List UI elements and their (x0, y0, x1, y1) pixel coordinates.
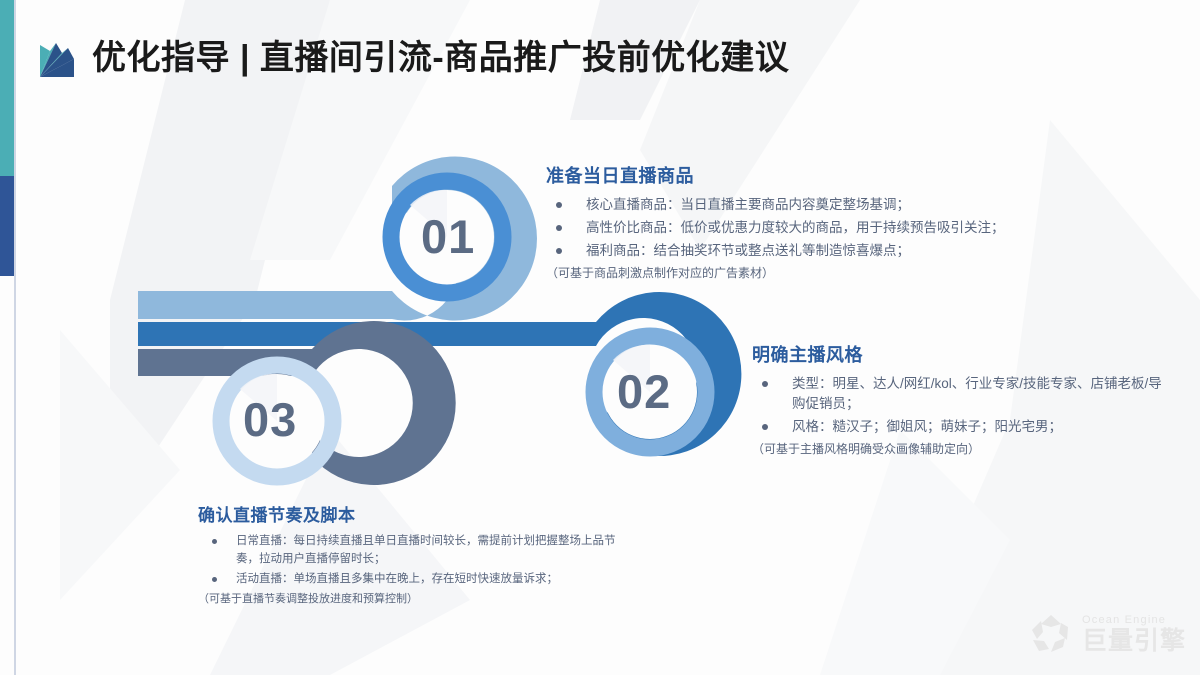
list-item: 高性价比商品：低价或优惠力度较大的商品，用于持续预告吸引关注； (546, 218, 1016, 238)
step-number-02: 02 (617, 368, 671, 415)
step-heading-02: 明确主播风格 (752, 345, 1172, 367)
ocean-engine-fan-logo-icon (36, 37, 78, 79)
step-note-03: （可基于直播节奏调整投放进度和预算控制） (198, 591, 618, 608)
step-bullet-list-03: 日常直播：每日持续直播且单日直播时间较长，需提前计划把握整场上品节奏，拉动用户直… (198, 533, 618, 588)
slide-header: 优化指导 | 直播间引流-商品推广投前优化建议 (0, 28, 1200, 88)
step-text-block-02: 明确主播风格 类型：明星、达人/网红/kol、行业专家/技能专家、店铺老板/导购… (752, 345, 1172, 458)
step-text-block-01: 准备当日直播商品 核心直播商品：当日直播主要商品内容奠定整场基调； 高性价比商品… (546, 166, 1016, 282)
step-note-01: （可基于商品刺激点制作对应的广告素材） (546, 264, 1016, 282)
list-item: 福利商品：结合抽奖环节或整点送礼等制造惊喜爆点； (546, 241, 1016, 261)
list-item: 活动直播：单场直播且多集中在晚上，存在短时快速放量诉求； (198, 571, 618, 589)
list-item: 日常直播：每日持续直播且单日直播时间较长，需提前计划把握整场上品节奏，拉动用户直… (198, 533, 618, 569)
watermark-logo: Ocean Engine 巨量引擎 (1028, 611, 1186, 657)
page-title: 优化指导 | 直播间引流-商品推广投前优化建议 (92, 41, 789, 75)
step-note-02: （可基于主播风格明确受众画像辅助定向） (752, 440, 1172, 458)
ocean-engine-aperture-icon (1028, 611, 1074, 657)
step-number-01: 01 (421, 213, 475, 260)
watermark-english: Ocean Engine (1082, 615, 1186, 626)
list-item: 类型：明星、达人/网红/kol、行业专家/技能专家、店铺老板/导购促销员； (752, 374, 1172, 415)
step-heading-03: 确认直播节奏及脚本 (198, 506, 618, 526)
slide-canvas: 优化指导 | 直播间引流-商品推广投前优化建议 01 02 03 (0, 0, 1200, 675)
list-item: 核心直播商品：当日直播主要商品内容奠定整场基调； (546, 195, 1016, 215)
step-bullet-list-02: 类型：明星、达人/网红/kol、行业专家/技能专家、店铺老板/导购促销员； 风格… (752, 374, 1172, 438)
step-number-03: 03 (243, 396, 297, 443)
step-text-block-03: 确认直播节奏及脚本 日常直播：每日持续直播且单日直播时间较长，需提前计划把握整场… (198, 506, 618, 607)
watermark-chinese: 巨量引擎 (1082, 629, 1186, 654)
step-bullet-list-01: 核心直播商品：当日直播主要商品内容奠定整场基调； 高性价比商品：低价或优惠力度较… (546, 195, 1016, 262)
step-heading-01: 准备当日直播商品 (546, 166, 1016, 188)
list-item: 风格：糙汉子；御姐风；萌妹子；阳光宅男； (752, 417, 1172, 437)
